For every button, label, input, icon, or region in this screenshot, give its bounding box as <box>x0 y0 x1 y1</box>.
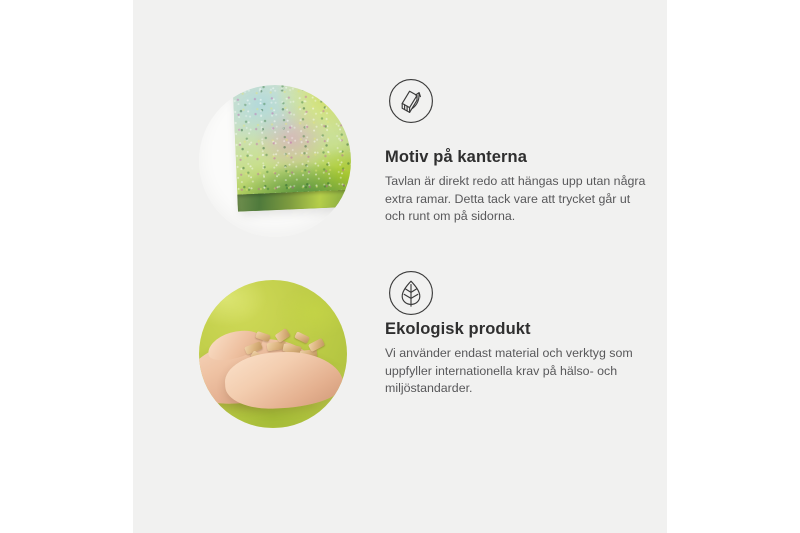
feature-row-eco-product: Ekologisk produkt Vi använder endast mat… <box>133 270 667 455</box>
feature-text-eco-product: Ekologisk produkt Vi använder endast mat… <box>385 320 665 398</box>
leaf-icon <box>388 270 434 316</box>
product-feature-infographic: Motiv på kanterna Tavlan är direkt redo … <box>0 0 800 533</box>
feature-text-canvas-edges: Motiv på kanterna Tavlan är direkt redo … <box>385 148 665 226</box>
feature-title: Ekologisk produkt <box>385 320 665 339</box>
canvas-print-block <box>232 85 351 212</box>
feature-description: Vi använder endast material och verktyg … <box>385 345 653 398</box>
wood-chips-hands-photo <box>199 280 347 428</box>
content-panel: Motiv på kanterna Tavlan är direkt redo … <box>133 0 667 533</box>
canvas-print-photo <box>199 85 351 237</box>
feature-title: Motiv på kanterna <box>385 148 665 167</box>
feature-row-canvas-edges: Motiv på kanterna Tavlan är direkt redo … <box>133 78 667 263</box>
feature-description: Tavlan är direkt redo att hängas upp uta… <box>385 173 653 226</box>
canvas-wrapped-edge-icon <box>388 78 434 124</box>
